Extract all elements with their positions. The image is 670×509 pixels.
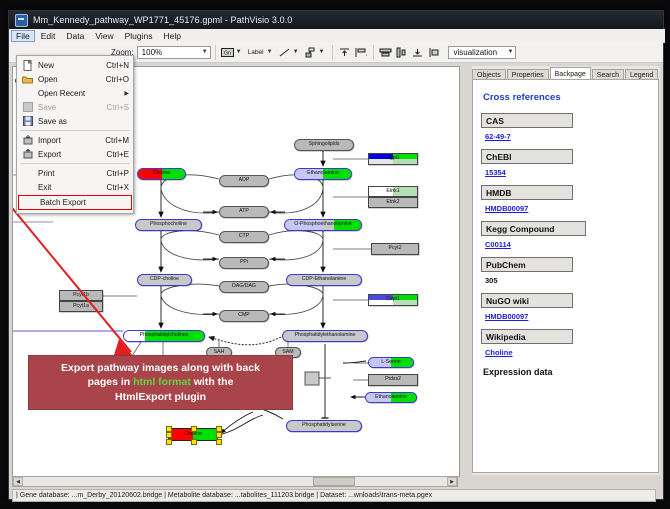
common-size-icon[interactable] bbox=[410, 45, 425, 60]
status-text: | Gene database: ...m_Derby_20120602.bri… bbox=[16, 492, 432, 499]
menu-data[interactable]: Data bbox=[61, 30, 89, 42]
menu-item-accel: Ctrl+O bbox=[106, 75, 129, 84]
side-panel-tabs: Objects Properties Backpage Search Legen… bbox=[472, 66, 660, 80]
toolbar-divider bbox=[215, 45, 216, 60]
menu-divider-2 bbox=[20, 163, 130, 164]
status-bar: | Gene database: ...m_Derby_20120602.bri… bbox=[12, 489, 656, 502]
side-panel-divider[interactable] bbox=[464, 66, 472, 475]
xref-value-chebi[interactable]: 15354 bbox=[485, 168, 650, 177]
cross-references-heading: Cross references bbox=[483, 92, 650, 103]
xref-label-chebi: ChEBI bbox=[481, 149, 573, 164]
scroll-right-arrow[interactable]: ▶ bbox=[447, 477, 457, 486]
menu-item-label: New bbox=[38, 61, 100, 70]
menu-item-accel: Ctrl+N bbox=[106, 61, 129, 70]
menu-plugins[interactable]: Plugins bbox=[120, 30, 158, 42]
callout-highlight: html format bbox=[133, 376, 191, 388]
new-file-icon bbox=[21, 60, 34, 71]
line-icon[interactable] bbox=[277, 45, 292, 60]
svg-text:Gn: Gn bbox=[224, 50, 231, 56]
visualization-value: visualization bbox=[453, 48, 497, 57]
callout-line-3: HtmlExport plugin bbox=[115, 391, 206, 403]
menu-item-label: Batch Export bbox=[40, 198, 127, 207]
xref-label-cas: CAS bbox=[481, 113, 573, 128]
align-center-icon[interactable] bbox=[378, 45, 393, 60]
align-left-icon[interactable]: o bbox=[353, 45, 368, 60]
menu-help[interactable]: Help bbox=[159, 30, 186, 42]
menu-item-label: Save bbox=[38, 103, 101, 112]
xref-label-nugo: NuGO wiki bbox=[481, 293, 573, 308]
toolbar-divider-3 bbox=[373, 45, 374, 60]
menu-view[interactable]: View bbox=[90, 30, 118, 42]
backpage-panel: Cross references CAS 62-49-7 ChEBI 15354… bbox=[472, 79, 659, 473]
svg-text:o: o bbox=[366, 52, 367, 57]
submenu-arrow-icon: ▶ bbox=[124, 90, 129, 97]
menu-item-save-as[interactable]: Save as bbox=[17, 114, 133, 128]
xref-value-nugo[interactable]: HMDB00097 bbox=[485, 312, 650, 321]
zoom-value: 100% bbox=[142, 48, 162, 57]
pathvisio-window: Mm_Kennedy_pathway_WP1771_45176.gpml - P… bbox=[8, 10, 664, 500]
menu-item-exit[interactable]: Exit Ctrl+X bbox=[17, 180, 133, 194]
menu-item-batch-export[interactable]: Batch Export bbox=[18, 195, 132, 210]
toolbar-divider-2 bbox=[332, 45, 333, 60]
menu-item-new[interactable]: New Ctrl+N bbox=[17, 58, 133, 72]
side-panel: Objects Properties Backpage Search Legen… bbox=[464, 66, 660, 475]
callout-line-2a: pages in bbox=[88, 376, 134, 388]
open-folder-icon bbox=[21, 74, 34, 85]
xref-value-wikipedia[interactable]: Choline bbox=[485, 348, 650, 357]
title-bar: Mm_Kennedy_pathway_WP1771_45176.gpml - P… bbox=[9, 11, 663, 29]
xref-label-wikipedia: Wikipedia bbox=[481, 329, 573, 344]
menu-item-label: Open Recent bbox=[38, 89, 124, 98]
interaction-icon[interactable] bbox=[303, 45, 318, 60]
xref-value-kegg[interactable]: C00114 bbox=[485, 240, 650, 249]
align-middle-icon[interactable] bbox=[394, 45, 409, 60]
window-title: Mm_Kennedy_pathway_WP1771_45176.gpml - P… bbox=[33, 15, 292, 25]
menu-item-print[interactable]: Print Ctrl+P bbox=[17, 166, 133, 180]
menu-item-label: Print bbox=[38, 169, 101, 178]
menu-item-accel: Ctrl+S bbox=[107, 103, 129, 112]
callout-line-1: Export pathway images along with back bbox=[61, 362, 260, 374]
menu-item-export[interactable]: Export Ctrl+E bbox=[17, 147, 133, 161]
blank-icon bbox=[21, 182, 34, 193]
zoom-select[interactable]: 100% ▼ bbox=[137, 46, 211, 59]
menu-item-accel: Ctrl+P bbox=[107, 169, 129, 178]
menu-item-accel: Ctrl+E bbox=[107, 150, 129, 159]
chevron-down-icon: ▼ bbox=[202, 49, 208, 55]
menu-item-label: Open bbox=[38, 75, 100, 84]
expression-data-heading: Expression data bbox=[483, 367, 650, 377]
scroll-thumb[interactable] bbox=[313, 477, 355, 486]
data-node-dropdown-icon[interactable]: ▼ bbox=[236, 49, 242, 55]
menu-item-label: Save as bbox=[38, 117, 123, 126]
menu-divider bbox=[20, 130, 130, 131]
label-icon[interactable]: Label bbox=[246, 45, 266, 60]
data-node-icon[interactable]: Gn bbox=[220, 45, 235, 60]
backpage-content: Cross references CAS 62-49-7 ChEBI 15354… bbox=[473, 80, 658, 472]
menu-edit[interactable]: Edit bbox=[36, 30, 61, 42]
annotation-callout: Export pathway images along with back pa… bbox=[28, 355, 293, 410]
blank-icon bbox=[21, 88, 34, 99]
chevron-down-icon-2: ▼ bbox=[508, 49, 514, 55]
desktop-background: Mm_Kennedy_pathway_WP1771_45176.gpml - P… bbox=[0, 0, 670, 509]
menu-item-accel: Ctrl+X bbox=[107, 183, 129, 192]
xref-value-cas[interactable]: 62-49-7 bbox=[485, 132, 650, 141]
interaction-dropdown-icon[interactable]: ▼ bbox=[319, 49, 325, 55]
label-dropdown-icon[interactable]: ▼ bbox=[267, 49, 273, 55]
menu-item-label: Export bbox=[38, 150, 101, 159]
stack-icon[interactable] bbox=[426, 45, 441, 60]
save-as-icon bbox=[21, 116, 34, 127]
xref-label-hmdb: HMDB bbox=[481, 185, 573, 200]
menu-item-open[interactable]: Open Ctrl+O bbox=[17, 72, 133, 86]
export-icon bbox=[21, 149, 34, 160]
xref-value-hmdb[interactable]: HMDB00097 bbox=[485, 204, 650, 213]
scroll-left-arrow[interactable]: ◀ bbox=[13, 477, 23, 486]
import-icon bbox=[21, 135, 34, 146]
blank-icon bbox=[23, 197, 36, 208]
file-menu-popup[interactable]: New Ctrl+N Open Ctrl+O Open Recent ▶ Sav… bbox=[16, 55, 134, 214]
menu-item-accel: Ctrl+M bbox=[105, 136, 129, 145]
menu-item-import[interactable]: Import Ctrl+M bbox=[17, 133, 133, 147]
menu-item-open-recent[interactable]: Open Recent ▶ bbox=[17, 86, 133, 100]
menu-file[interactable]: File bbox=[11, 30, 35, 42]
menu-item-label: Exit bbox=[38, 183, 101, 192]
line-dropdown-icon[interactable]: ▼ bbox=[293, 49, 299, 55]
canvas-hscrollbar[interactable]: ◀ ▶ bbox=[12, 476, 458, 487]
pathvisio-icon bbox=[15, 14, 28, 27]
xref-label-pubchem: PubChem bbox=[481, 257, 573, 272]
blank-icon bbox=[21, 168, 34, 179]
menu-item-save: Save Ctrl+S bbox=[17, 100, 133, 114]
visualization-select[interactable]: visualization ▼ bbox=[448, 46, 516, 59]
align-top-icon[interactable] bbox=[337, 45, 352, 60]
xref-label-kegg: Kegg Compound bbox=[481, 221, 586, 236]
xref-value-pubchem: 305 bbox=[485, 276, 650, 285]
callout-line-2b: with the bbox=[191, 376, 234, 388]
save-icon bbox=[21, 102, 34, 113]
menu-item-label: Import bbox=[38, 136, 99, 145]
menu-bar: File Edit Data View Plugins Help bbox=[9, 29, 665, 43]
